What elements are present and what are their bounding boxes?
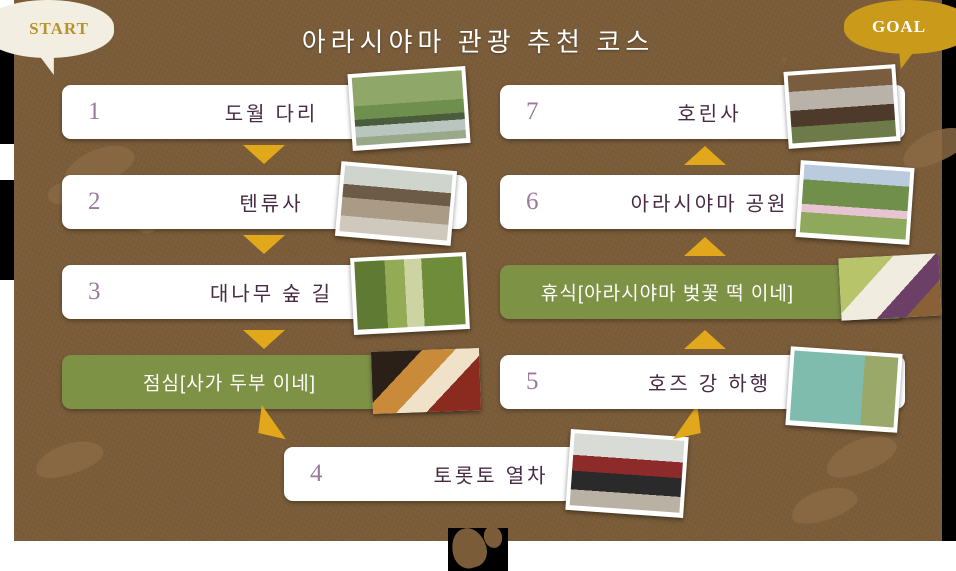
train-photo: [565, 429, 688, 518]
page-title: 아라시야마 관광 추천 코스: [0, 22, 956, 59]
bamboo-path-photo: [350, 252, 470, 335]
sakura-mochi-photo: [838, 253, 941, 320]
tour-course-infographic: START GOAL 아라시야마 관광 추천 코스 1 도월 다리 2 텐류사 …: [0, 0, 956, 571]
right-frame-shadow: [942, 0, 956, 541]
arrow-down-3: [243, 330, 285, 349]
tofu-meal-photo: [371, 348, 481, 414]
arrow-up-2: [684, 237, 726, 256]
horinji-photo: [783, 64, 900, 149]
left-frame-shadow-top: [0, 48, 14, 144]
river-boat-photo: [785, 346, 902, 433]
bridge-photo: [347, 66, 470, 151]
arrow-up-1: [684, 330, 726, 349]
temple-gate-photo: [335, 161, 457, 246]
park-photo: [795, 160, 914, 245]
arrow-down-2: [243, 235, 285, 254]
footprint-decor-bottom: [448, 528, 508, 571]
left-frame-shadow-mid: [0, 180, 14, 280]
arrow-up-3: [684, 146, 726, 165]
arrow-down-1: [243, 145, 285, 164]
